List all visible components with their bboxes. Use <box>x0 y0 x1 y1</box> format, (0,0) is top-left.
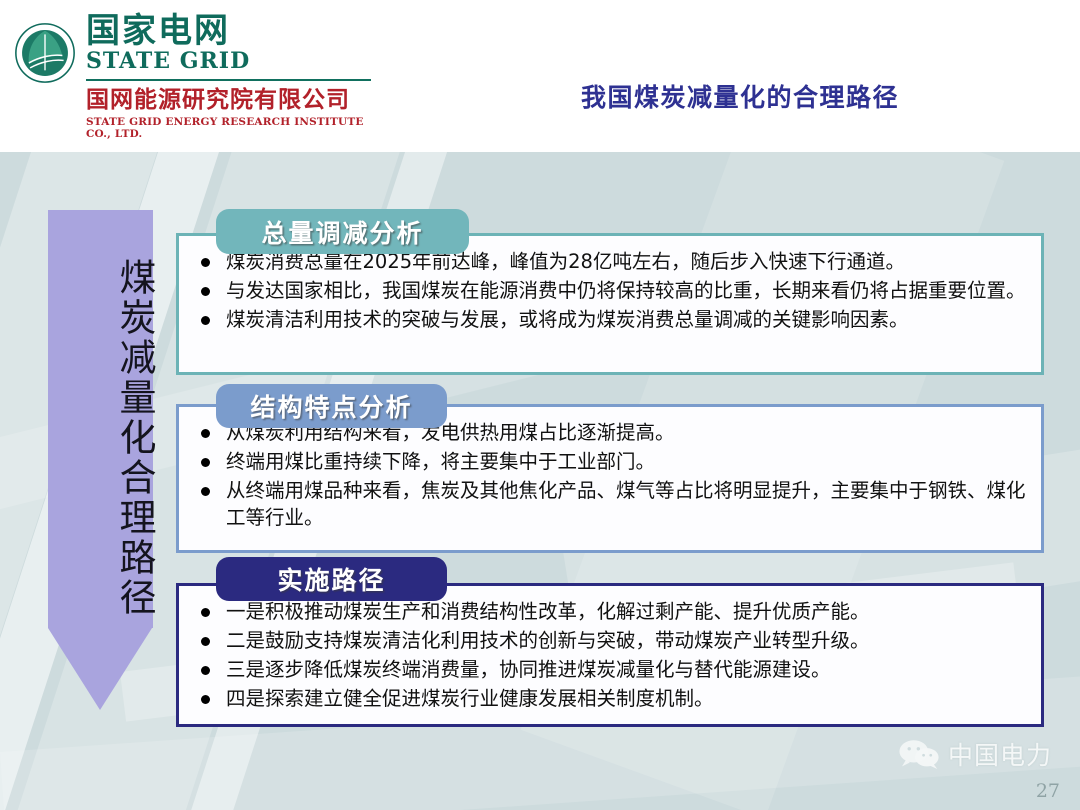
list-item: 终端用煤比重持续下降，将主要集中于工业部门。 <box>201 449 1029 476</box>
state-grid-logo: 国家电网 STATE GRID 国网能源研究院有限公司 STATE GRID E… <box>14 12 374 140</box>
arrow-banner-label: 煤炭减量化合理路径 <box>48 238 153 638</box>
bullet-dot-icon <box>201 695 210 704</box>
logo-divider <box>86 79 371 81</box>
company-name-en: STATE GRID <box>86 49 376 73</box>
section-3-bullet-list: 一是积极推动煤炭生产和消费结构性改革，化解过剩产能、提升优质产能。 二是鼓励支持… <box>201 599 1029 715</box>
section-heading-2: 结构特点分析 <box>216 384 447 428</box>
company-name-cn: 国家电网 <box>86 12 376 51</box>
list-item: 三是逐步降低煤炭终端消费量，协同推进煤炭减量化与替代能源建设。 <box>201 657 1029 684</box>
arrow-banner-head-icon <box>48 628 152 710</box>
bullet-text: 二是鼓励支持煤炭清洁化利用技术的创新与突破，带动煤炭产业转型升级。 <box>226 628 870 655</box>
bullet-dot-icon <box>201 287 210 296</box>
slide-canvas: 国家电网 STATE GRID 国网能源研究院有限公司 STATE GRID E… <box>0 0 1080 810</box>
section-panel-3: 一是积极推动煤炭生产和消费结构性改革，化解过剩产能、提升优质产能。 二是鼓励支持… <box>176 583 1044 727</box>
bullet-text: 一是积极推动煤炭生产和消费结构性改革，化解过剩产能、提升优质产能。 <box>226 599 870 626</box>
bullet-text: 从终端用煤品种来看，焦炭及其他焦化产品、煤气等占比将明显提升，主要集中于钢铁、煤… <box>226 478 1029 532</box>
bullet-dot-icon <box>201 608 210 617</box>
section-panel-1: 煤炭消费总量在2025年前达峰，峰值为28亿吨左右，随后步入快速下行通道。 与发… <box>176 233 1044 375</box>
list-item: 二是鼓励支持煤炭清洁化利用技术的创新与突破，带动煤炭产业转型升级。 <box>201 628 1029 655</box>
slide-header: 国家电网 STATE GRID 国网能源研究院有限公司 STATE GRID E… <box>0 0 1080 152</box>
bullet-dot-icon <box>201 487 210 496</box>
institute-name-en: STATE GRID ENERGY RESEARCH INSTITUTE CO.… <box>86 116 376 140</box>
bullet-text: 煤炭清洁利用技术的突破与发展，或将成为煤炭消费总量调减的关键影响因素。 <box>226 307 909 334</box>
list-item: 与发达国家相比，我国煤炭在能源消费中仍将保持较高的比重，长期来看仍将占据重要位置… <box>201 278 1029 305</box>
section-heading-3: 实施路径 <box>216 557 447 601</box>
bullet-text: 与发达国家相比，我国煤炭在能源消费中仍将保持较高的比重，长期来看仍将占据重要位置… <box>226 278 1026 305</box>
list-item: 从终端用煤品种来看，焦炭及其他焦化产品、煤气等占比将明显提升，主要集中于钢铁、煤… <box>201 478 1029 532</box>
section-1-bullet-list: 煤炭消费总量在2025年前达峰，峰值为28亿吨左右，随后步入快速下行通道。 与发… <box>201 249 1029 336</box>
state-grid-emblem-icon <box>14 22 76 84</box>
list-item: 煤炭清洁利用技术的突破与发展，或将成为煤炭消费总量调减的关键影响因素。 <box>201 307 1029 334</box>
watermark: 中国电力 <box>898 736 1052 772</box>
bullet-text: 三是逐步降低煤炭终端消费量，协同推进煤炭减量化与替代能源建设。 <box>226 657 831 684</box>
section-heading-1: 总量调减分析 <box>216 209 469 254</box>
bullet-text: 终端用煤比重持续下降，将主要集中于工业部门。 <box>226 449 655 476</box>
wechat-icon <box>898 739 940 769</box>
bullet-dot-icon <box>201 458 210 467</box>
logo-text-block: 国家电网 STATE GRID 国网能源研究院有限公司 STATE GRID E… <box>86 12 376 140</box>
page-title: 我国煤炭减量化的合理路径 <box>420 78 1060 114</box>
page-number: 27 <box>1036 780 1060 802</box>
section-2-bullet-list: 从煤炭利用结构来看，发电供热用煤占比逐渐提高。 终端用煤比重持续下降，将主要集中… <box>201 420 1029 534</box>
bullet-dot-icon <box>201 666 210 675</box>
bullet-dot-icon <box>201 316 210 325</box>
bullet-dot-icon <box>201 429 210 438</box>
bullet-text: 四是探索建立健全促进煤炭行业健康发展相关制度机制。 <box>226 686 714 713</box>
list-item: 一是积极推动煤炭生产和消费结构性改革，化解过剩产能、提升优质产能。 <box>201 599 1029 626</box>
institute-name-cn: 国网能源研究院有限公司 <box>86 87 376 115</box>
watermark-label: 中国电力 <box>948 736 1052 772</box>
list-item: 四是探索建立健全促进煤炭行业健康发展相关制度机制。 <box>201 686 1029 713</box>
vertical-arrow-banner: 煤炭减量化合理路径 <box>48 210 153 710</box>
bullet-dot-icon <box>201 258 210 267</box>
bullet-dot-icon <box>201 637 210 646</box>
